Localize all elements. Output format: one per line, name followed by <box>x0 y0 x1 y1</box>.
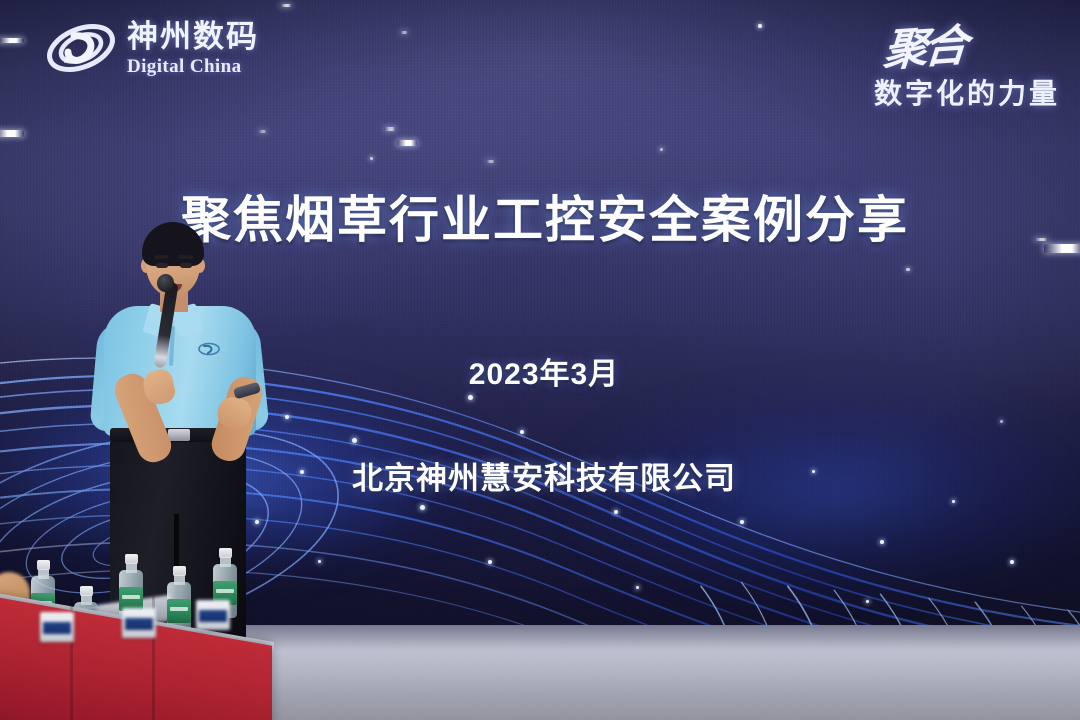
swirl-spiral-icon <box>44 16 118 80</box>
speaker-hair <box>142 222 204 266</box>
logo-name-cn: 神州数码 <box>127 21 259 52</box>
name-card <box>196 600 230 630</box>
speaker-belt-buckle <box>168 429 190 441</box>
company-badge-icon <box>196 340 222 357</box>
speaker-eye-left <box>156 263 168 268</box>
name-card <box>40 612 74 642</box>
digital-china-logo: 神州数码 Digital China <box>44 16 259 80</box>
slogan-brush-text: 聚合 <box>881 9 966 78</box>
slogan-subtitle: 数字化的力量 <box>874 72 1060 112</box>
bottle-label <box>167 599 191 623</box>
conference-stage-photo: 神州数码 Digital China 聚合 数字化的力量 聚焦烟草行业工控安全案… <box>0 0 1080 720</box>
name-card <box>122 608 156 638</box>
logo-name-en: Digital China <box>127 57 259 76</box>
speaker-eye-right <box>180 263 192 268</box>
event-slogan: 聚合 数字化的力量 <box>874 12 1060 112</box>
